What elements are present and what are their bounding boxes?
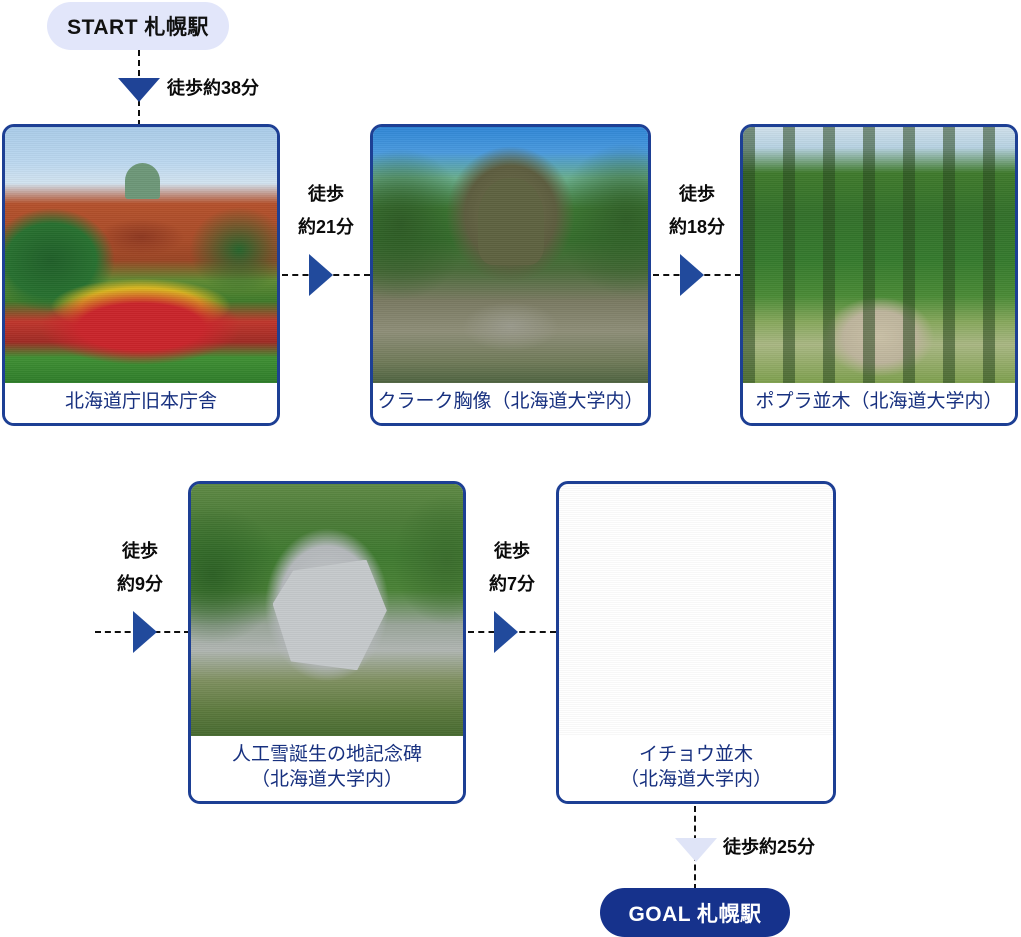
photo-clark-bust: [373, 127, 648, 383]
caption-poplar-avenue: ポプラ並木（北海道大学内）: [743, 383, 1015, 423]
card-hokkaido-government-office[interactable]: 北海道庁旧本庁舎: [2, 124, 280, 426]
triangle-right-icon-2: [680, 254, 704, 296]
caption-clark-bust: クラーク胸像（北海道大学内）: [373, 383, 648, 423]
triangle-right-icon-4: [494, 611, 518, 653]
card-artificial-snow-monument[interactable]: 人工雪誕生の地記念碑 （北海道大学内）: [188, 481, 466, 804]
card-clark-bust[interactable]: クラーク胸像（北海道大学内）: [370, 124, 651, 426]
step-label-start-to-first: 徒歩約38分: [167, 79, 259, 98]
start-badge: START 札幌駅: [47, 2, 229, 50]
triangle-down-icon-goal: [675, 838, 717, 862]
triangle-down-icon-start: [118, 78, 160, 102]
step-label-second-to-third: 徒歩 約18分: [654, 178, 740, 245]
step-label-third-to-fourth-line1: 徒歩: [97, 535, 183, 568]
step-label-fourth-to-fifth-line1: 徒歩: [469, 535, 555, 568]
photo-hokkaido-government-office: [5, 127, 277, 383]
card-poplar-avenue[interactable]: ポプラ並木（北海道大学内）: [740, 124, 1018, 426]
step-label-first-to-second: 徒歩 約21分: [283, 178, 369, 245]
caption-ginkgo-avenue: イチョウ並木 （北海道大学内）: [559, 736, 833, 801]
triangle-right-icon-1: [309, 254, 333, 296]
photo-ginkgo-avenue: [559, 484, 833, 736]
step-label-fourth-to-fifth-line2: 約7分: [469, 568, 555, 601]
step-label-second-to-third-line1: 徒歩: [654, 178, 740, 211]
step-label-fifth-to-goal: 徒歩約25分: [723, 838, 815, 857]
step-label-second-to-third-line2: 約18分: [654, 211, 740, 244]
goal-badge: GOAL 札幌駅: [600, 888, 790, 937]
caption-hokkaido-government-office: 北海道庁旧本庁舎: [5, 383, 277, 423]
caption-artificial-snow-monument: 人工雪誕生の地記念碑 （北海道大学内）: [191, 736, 463, 801]
step-label-first-to-second-line1: 徒歩: [283, 178, 369, 211]
step-label-third-to-fourth-line2: 約9分: [97, 568, 183, 601]
card-ginkgo-avenue[interactable]: イチョウ並木 （北海道大学内）: [556, 481, 836, 804]
step-label-fourth-to-fifth: 徒歩 約7分: [469, 535, 555, 602]
step-label-first-to-second-line2: 約21分: [283, 211, 369, 244]
photo-artificial-snow-monument: [191, 484, 463, 736]
step-label-third-to-fourth: 徒歩 約9分: [97, 535, 183, 602]
photo-poplar-avenue: [743, 127, 1015, 383]
triangle-right-icon-3: [133, 611, 157, 653]
